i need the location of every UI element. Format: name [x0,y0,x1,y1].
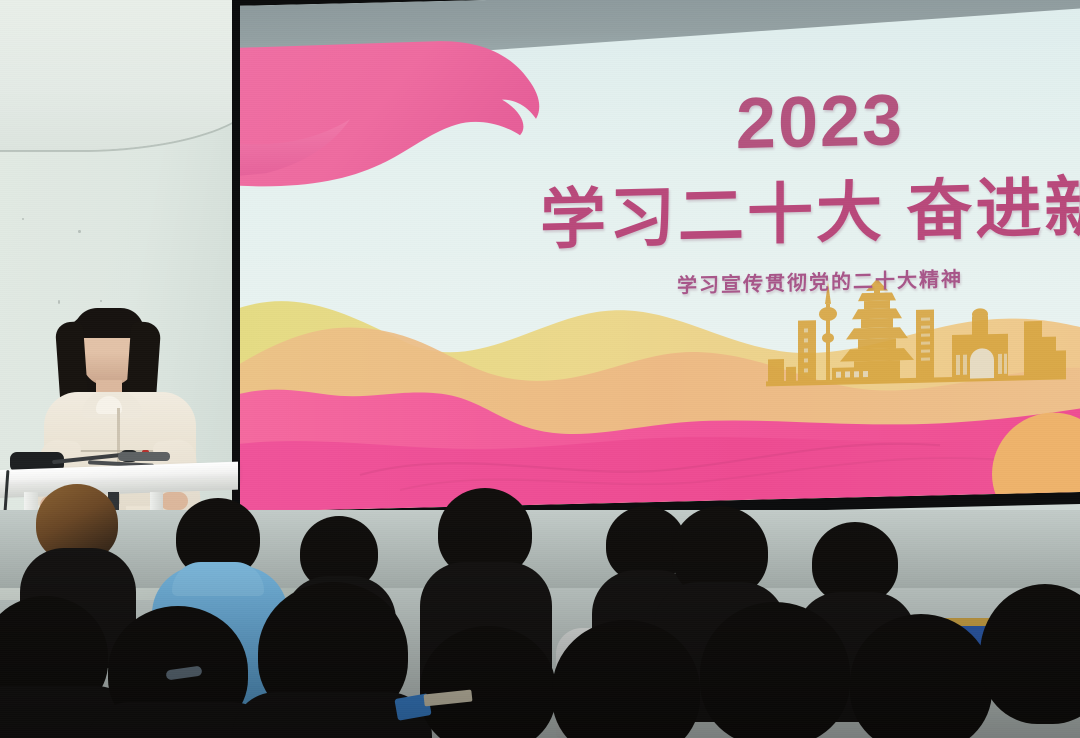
audience-head-front [700,602,850,738]
slide-text-block: 2023 学习二十大 奋进新征 学习宣传贯彻党的二十大精神 [540,82,1080,303]
wall-cornice [0,0,260,150]
wall-blemish [22,218,24,220]
projection-screen: 2023 学习二十大 奋进新征 学习宣传贯彻党的二十大精神 [240,0,1080,512]
wall-blemish [78,230,81,233]
projection-screen-frame: 2023 学习二十大 奋进新征 学习宣传贯彻党的二十大精神 [232,0,1080,524]
lecture-hall-photo: 2023 学习二十大 奋进新征 学习宣传贯彻党的二十大精神 [0,0,1080,738]
audience-crowd [0,470,1080,738]
pink-ribbon-decoration [240,36,570,204]
audience-hood [172,562,264,596]
slide-year: 2023 [540,82,1080,164]
podium-device [118,452,170,461]
slide-headline: 学习二十大 奋进新征 [540,154,1080,263]
audience-head-front [980,584,1080,724]
